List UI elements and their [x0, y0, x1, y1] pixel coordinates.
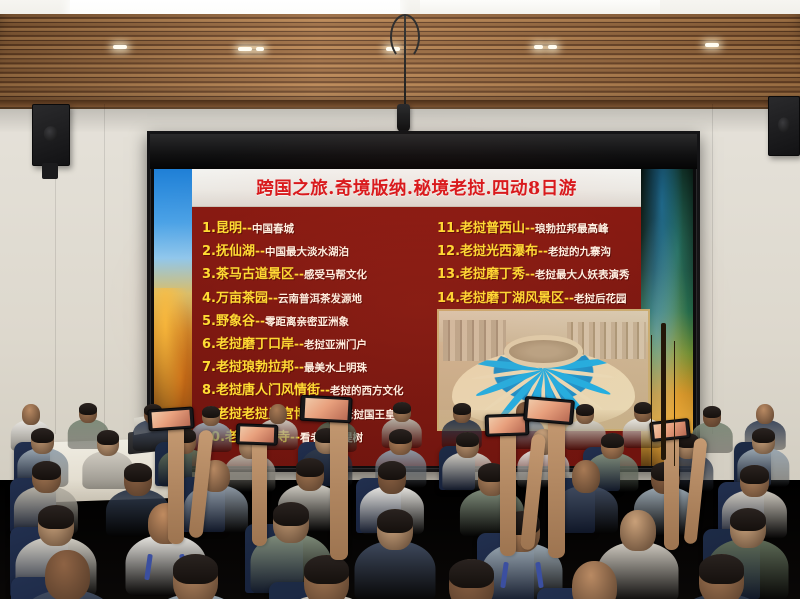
conference-room-photo: 跨国之旅.奇境版纳.秘境老挝.四动8日游 1.昆明--中国春城2.抚仙湖--中国…: [0, 0, 800, 599]
itinerary-item-description: 零距离亲密亚洲象: [265, 316, 349, 328]
itinerary-item-number: 2.: [202, 244, 216, 259]
itinerary-item-number: 5.: [202, 314, 216, 329]
audience-person-hair: [576, 404, 594, 416]
audience-smartphone[interactable]: [236, 423, 279, 445]
audience-person-hair: [601, 433, 624, 448]
itinerary-item: 3.茶马古道景区--感受马帮文化: [202, 261, 432, 284]
downlight-icon: [113, 45, 127, 49]
itinerary-item-description: 云南普洱茶发源地: [278, 293, 362, 305]
audience-raised-arm: [252, 438, 267, 546]
smartphone-screen: [489, 416, 526, 433]
itinerary-item: 7.老挝琅勃拉邦--最美水上明珠: [202, 354, 432, 377]
photo-central-ring: [504, 335, 583, 368]
audience-person-hair: [634, 402, 652, 414]
itinerary-item-name: 抚仙湖: [216, 244, 255, 259]
itinerary-item-name: 老挝磨丁口岸: [216, 337, 294, 352]
itinerary-separator: --: [255, 244, 265, 258]
audience-person-hair: [740, 465, 769, 484]
itinerary-item-description: 老挝后花园: [574, 293, 627, 305]
audience-person-hair: [124, 463, 153, 482]
itinerary-item-name: 老挝磨丁秀: [460, 267, 525, 282]
audience-person-hair: [377, 509, 413, 533]
downlight-icon: [238, 47, 252, 51]
itinerary-item-name: 万亩茶园: [216, 291, 268, 306]
downlight-icon: [256, 47, 264, 51]
itinerary-item-name: 野象谷: [216, 314, 255, 329]
itinerary-separator: --: [268, 291, 278, 305]
itinerary-item: 14.老挝磨丁湖风景区--老挝后花园: [437, 285, 652, 308]
speaker-cone-icon: [778, 117, 790, 132]
audience-person-hair: [456, 432, 479, 447]
skylight-panel-secondary: [420, 0, 660, 14]
audience-smartphone[interactable]: [523, 396, 575, 425]
audience-area: [0, 380, 800, 599]
audience-raised-arm: [330, 410, 348, 560]
itinerary-item-description: 中国春城: [252, 223, 294, 235]
smartphone-screen: [152, 410, 191, 429]
itinerary-item-name: 老挝琅勃拉邦: [216, 360, 294, 375]
itinerary-item-number: 1.: [202, 221, 216, 236]
itinerary-separator: --: [525, 267, 535, 281]
itinerary-separator: --: [294, 337, 304, 351]
downlight-icon: [548, 45, 557, 49]
audience-raised-arm: [548, 412, 565, 558]
audience-person-hair: [752, 428, 775, 443]
left-wall-speaker: [32, 104, 70, 166]
audience-person-hair: [449, 559, 494, 589]
itinerary-item: 4.万亩茶园--云南普洱茶发源地: [202, 285, 432, 308]
itinerary-separator: --: [255, 314, 265, 328]
audience-person-hair: [202, 406, 220, 418]
audience-person-hair: [703, 406, 721, 418]
itinerary-item-description: 老挝最大人妖表演秀: [535, 269, 630, 281]
audience-person-head: [620, 510, 656, 551]
itinerary-item: 1.昆明--中国春城: [202, 215, 432, 238]
audience-person-hair: [393, 402, 411, 414]
itinerary-separator: --: [525, 221, 535, 235]
audience-person-head: [572, 561, 617, 599]
itinerary-item-description: 老挝的九寨沟: [548, 246, 611, 258]
itinerary-item-number: 6.: [202, 337, 216, 352]
audience-smartphone[interactable]: [147, 406, 194, 431]
audience-person-hair: [389, 429, 412, 444]
audience-smartphone[interactable]: [299, 395, 352, 424]
smartphone-screen: [528, 400, 571, 422]
audience-person-hair: [79, 403, 97, 415]
right-wall-speaker: [768, 96, 800, 156]
itinerary-item-number: 14.: [437, 291, 460, 306]
itinerary-item: 12.老挝光西瀑布--老挝的九寨沟: [437, 238, 652, 261]
audience-raised-arm: [168, 424, 184, 544]
audience-person-hair: [378, 461, 407, 480]
audience-person-head: [269, 404, 287, 424]
audience-person-hair: [97, 430, 120, 445]
itinerary-item: 2.抚仙湖--中国最大淡水湖泊: [202, 238, 432, 261]
audience-person-hair: [32, 461, 61, 480]
itinerary-item: 11.老挝普西山--琅勃拉邦最高峰: [437, 215, 652, 238]
itinerary-item: 5.野象谷--零距离亲密亚洲象: [202, 308, 432, 331]
itinerary-item-name: 老挝普西山: [460, 221, 525, 236]
itinerary-item-name: 茶马古道景区: [216, 267, 294, 282]
itinerary-item-description: 琅勃拉邦最高峰: [535, 223, 609, 235]
itinerary-item-description: 中国最大淡水湖泊: [265, 246, 349, 258]
audience-person-hair: [730, 508, 766, 532]
itinerary-item-number: 7.: [202, 360, 216, 375]
hanging-device-icon: [397, 104, 410, 132]
audience-person-hair: [273, 502, 309, 526]
itinerary-separator: --: [294, 360, 304, 374]
itinerary-item-number: 3.: [202, 267, 216, 282]
screen-bezel-top: [150, 134, 697, 169]
audience-smartphone[interactable]: [649, 418, 691, 442]
itinerary-item-description: 感受马帮文化: [304, 269, 367, 281]
itinerary-item-number: 4.: [202, 291, 216, 306]
audience-person-hair: [453, 403, 471, 415]
itinerary-item-description: 最美水上明珠: [304, 362, 367, 374]
downlight-icon: [534, 45, 543, 49]
audience-person-head: [45, 550, 90, 599]
audience-person-hair: [296, 458, 325, 477]
audience-person-head: [22, 404, 40, 424]
itinerary-item-number: 12.: [437, 244, 460, 259]
itinerary-separator: --: [564, 291, 574, 305]
ceiling-cable: [404, 16, 406, 108]
itinerary-item-name: 老挝光西瀑布: [460, 244, 538, 259]
audience-raised-arm: [500, 428, 516, 556]
audience-person-hair: [173, 554, 218, 584]
speaker-cone-icon: [44, 126, 58, 142]
itinerary-separator: --: [242, 221, 252, 235]
smartphone-screen: [240, 426, 275, 442]
audience-person-hair: [38, 505, 74, 529]
slide-title: 跨国之旅.奇境版纳.秘境老挝.四动8日游: [256, 175, 576, 200]
itinerary-item-description: 老挝亚洲门户: [304, 339, 367, 351]
itinerary-item-name: 昆明: [216, 221, 242, 236]
itinerary-item-name: 老挝磨丁湖风景区: [460, 291, 564, 306]
audience-person-hair: [31, 428, 54, 443]
speaker-bracket: [42, 163, 59, 179]
itinerary-separator: --: [538, 244, 548, 258]
slide-title-bar: 跨国之旅.奇境版纳.秘境老挝.四动8日游: [192, 169, 641, 207]
smartphone-screen: [653, 421, 687, 439]
itinerary-item: 13.老挝磨丁秀--老挝最大人妖表演秀: [437, 261, 652, 284]
audience-person-hair: [699, 554, 744, 584]
audience-raised-arm: [664, 432, 679, 550]
smartphone-screen: [304, 398, 348, 419]
itinerary-item-number: 11.: [437, 221, 460, 236]
itinerary-item-number: 13.: [437, 267, 460, 282]
audience-person-head: [756, 404, 774, 424]
itinerary-separator: --: [294, 267, 304, 281]
itinerary-item: 6.老挝磨丁口岸--老挝亚洲门户: [202, 331, 432, 354]
downlight-icon: [705, 43, 719, 47]
audience-person-head: [572, 460, 601, 492]
